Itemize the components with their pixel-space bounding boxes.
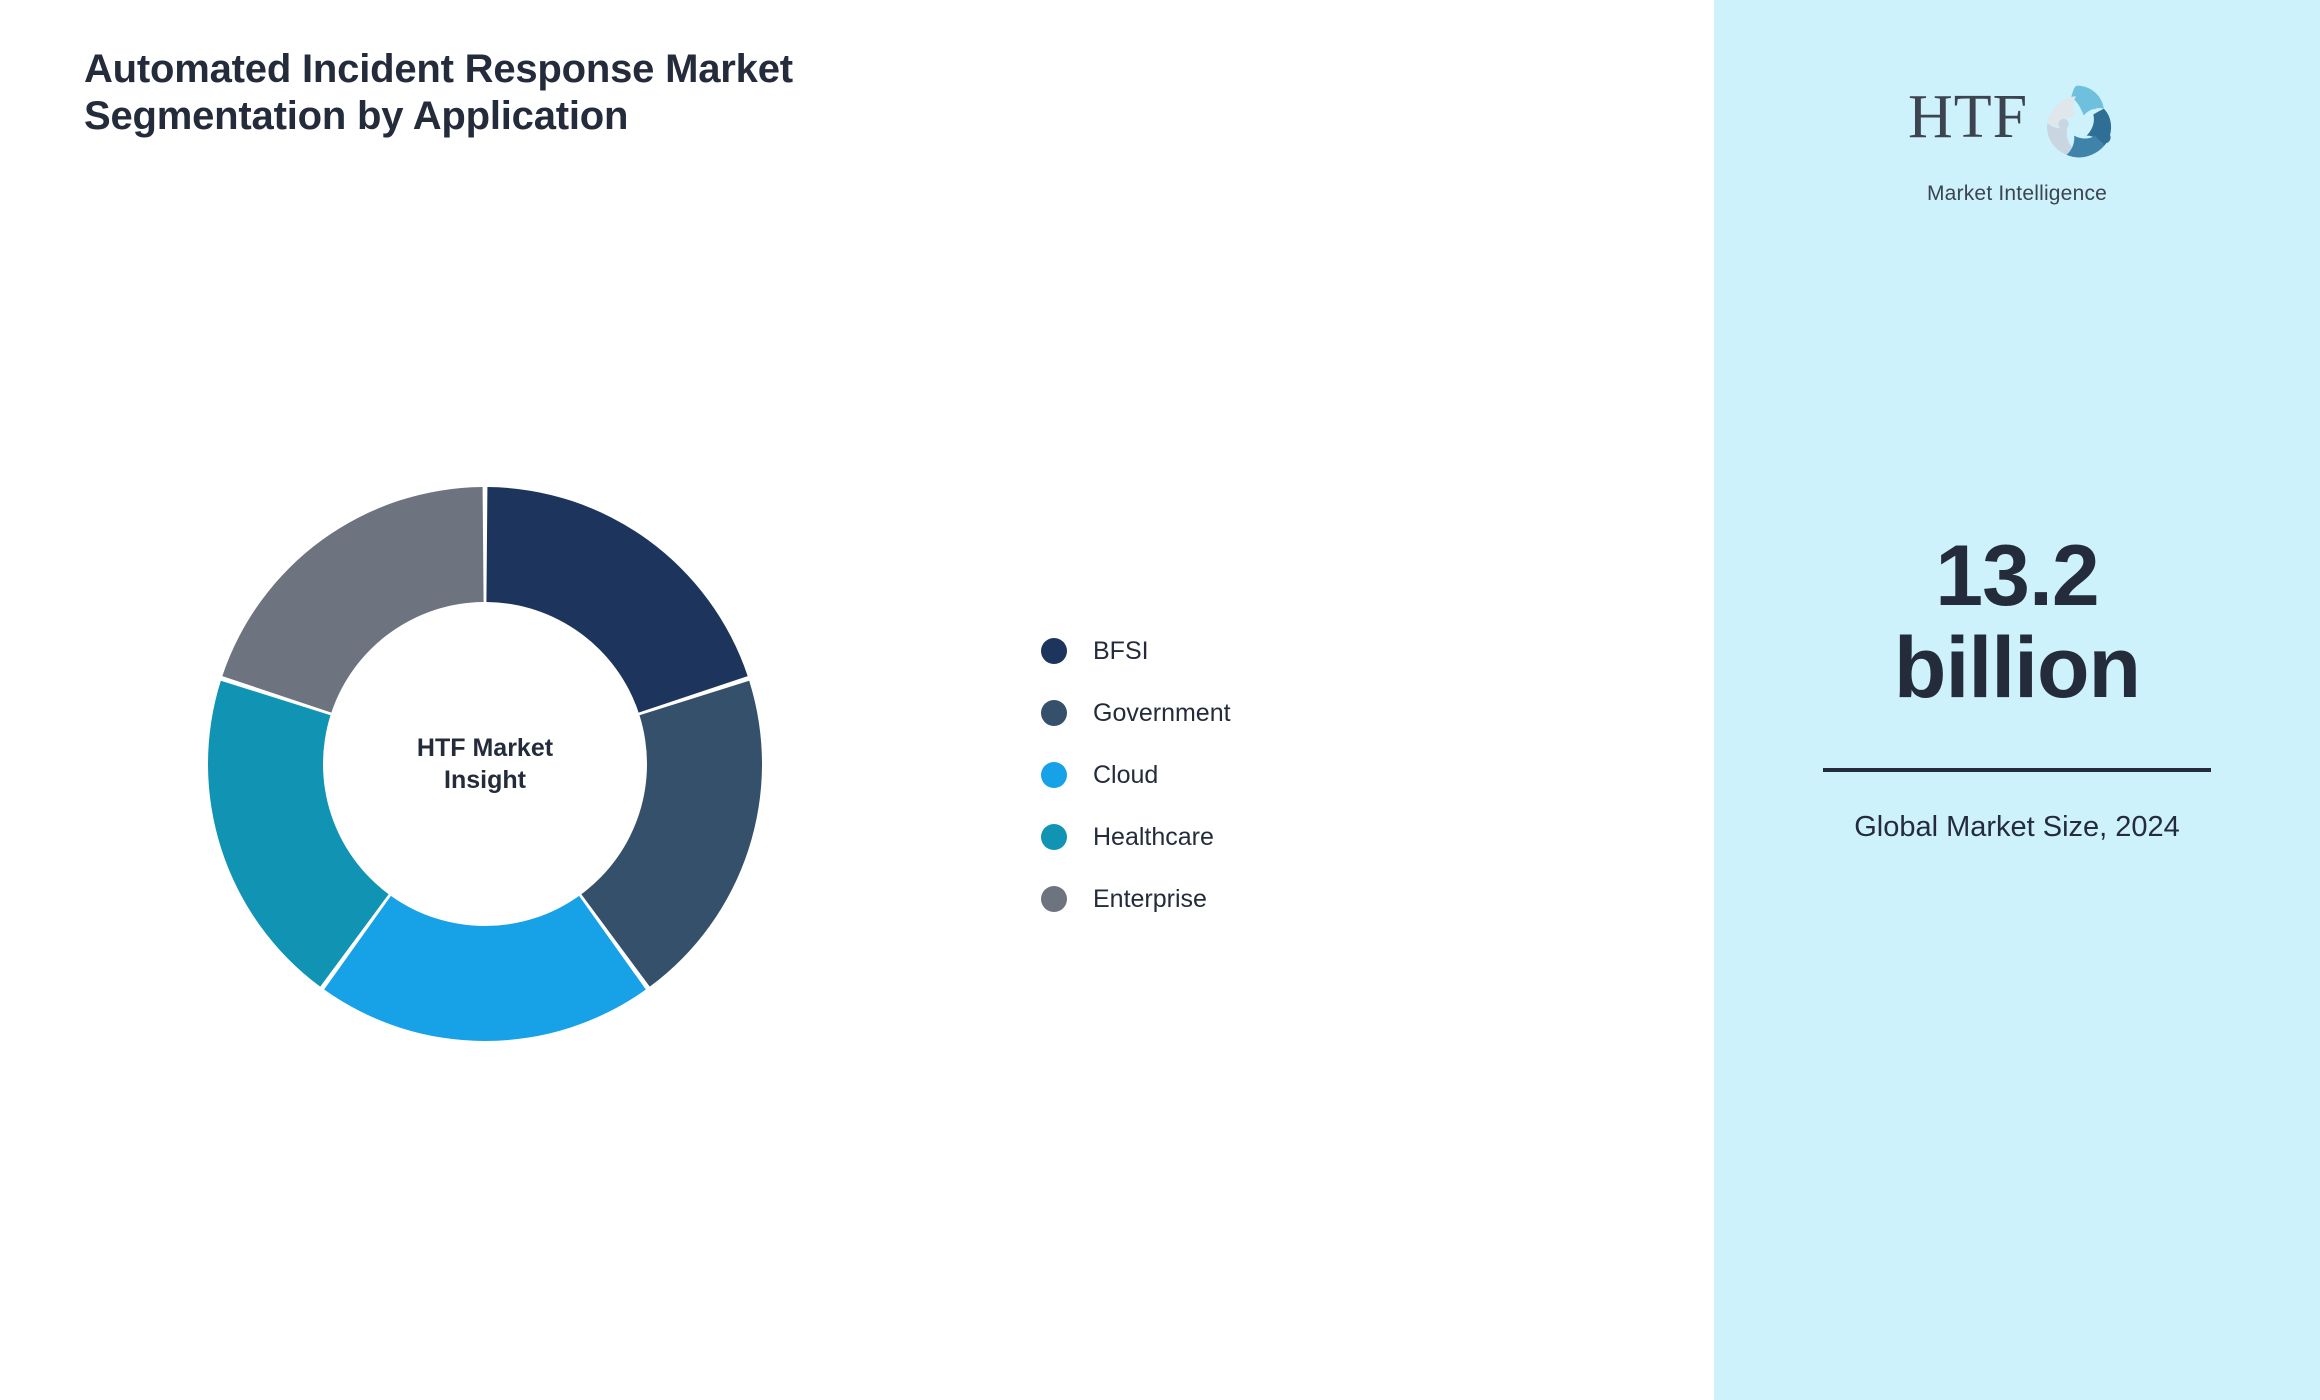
legend-item-label: BFSI: [1093, 637, 1149, 666]
htf-logo[interactable]: HTF Market Intellig: [1902, 78, 2132, 206]
legend-swatch-icon: [1041, 700, 1067, 726]
stat-divider: [1823, 768, 2211, 772]
chart-legend: BFSI Government Cloud Healthcare Enterpr…: [1041, 620, 1231, 930]
legend-item-healthcare[interactable]: Healthcare: [1041, 806, 1231, 868]
infographic-canvas: Automated Incident Response Market Segme…: [0, 0, 2320, 1400]
stat-panel: HTF Market Intellig: [1714, 0, 2320, 1400]
legend-item-label: Enterprise: [1093, 885, 1207, 914]
htf-swirl-people-logo-icon: [2028, 78, 2126, 174]
legend-swatch-icon: [1041, 638, 1067, 664]
logo-marks: HTF: [1902, 78, 2132, 190]
legend-item-label: Government: [1093, 699, 1231, 728]
donut-chart: HTF Market Insight: [207, 486, 763, 1042]
legend-swatch-icon: [1041, 824, 1067, 850]
legend-swatch-icon: [1041, 886, 1067, 912]
stat-block: 13.2 billion Global Market Size, 2024: [1807, 530, 2227, 848]
legend-item-bfsi[interactable]: BFSI: [1041, 620, 1231, 682]
stat-value-line-2: billion: [1807, 622, 2227, 714]
legend-item-enterprise[interactable]: Enterprise: [1041, 868, 1231, 930]
legend-item-government[interactable]: Government: [1041, 682, 1231, 744]
donut-center-label: HTF Market Insight: [207, 486, 763, 1042]
legend-item-label: Healthcare: [1093, 823, 1214, 852]
stat-caption: Global Market Size, 2024: [1807, 806, 2227, 848]
chart-panel: Automated Incident Response Market Segme…: [0, 0, 1714, 1400]
stat-value: 13.2 billion: [1807, 530, 2227, 714]
page-title: Automated Incident Response Market Segme…: [84, 46, 964, 140]
legend-item-cloud[interactable]: Cloud: [1041, 744, 1231, 806]
stat-value-line-1: 13.2: [1807, 530, 2227, 622]
legend-item-label: Cloud: [1093, 761, 1158, 790]
legend-swatch-icon: [1041, 762, 1067, 788]
logo-wordmark: HTF: [1908, 86, 2028, 148]
donut-center-label-text: HTF Market Insight: [390, 732, 580, 796]
